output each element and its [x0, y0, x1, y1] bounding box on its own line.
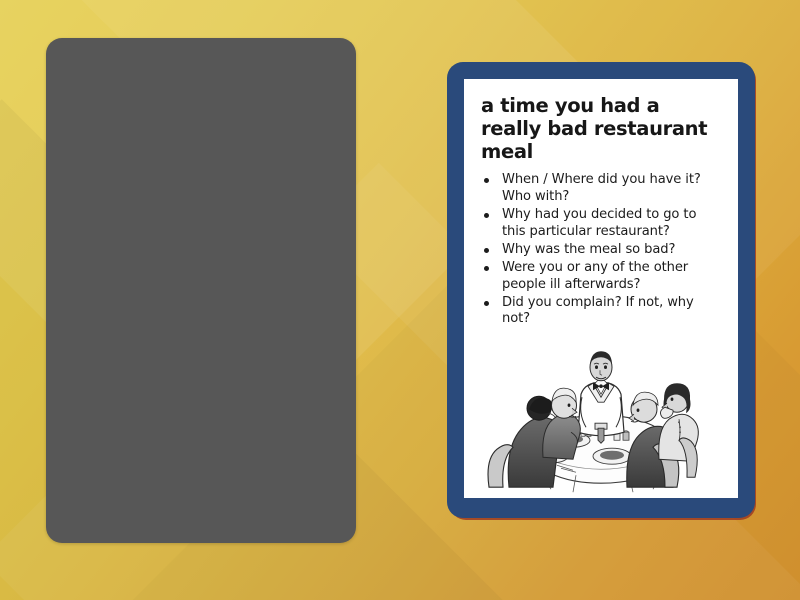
bullet-dot-icon [484, 248, 489, 253]
list-item: When / Where did you have it? Who with? [483, 172, 721, 205]
discussion-card[interactable]: a time you had a really bad restaurant m… [447, 62, 755, 518]
question-text: Were you or any of the other people ill … [502, 260, 688, 292]
list-item: Did you complain? If not, why not? [483, 295, 721, 328]
restaurant-diners-illustration [481, 336, 721, 498]
bullet-dot-icon [484, 213, 489, 218]
list-item: Why had you decided to go to this partic… [483, 207, 721, 240]
empty-content-placeholder[interactable] [46, 38, 356, 543]
list-item: Were you or any of the other people ill … [483, 260, 721, 293]
restaurant-diners-cartoon [481, 336, 721, 498]
question-text: When / Where did you have it? Who with? [502, 172, 701, 204]
list-item: Why was the meal so bad? [483, 242, 721, 259]
question-text: Why had you decided to go to this partic… [502, 207, 696, 239]
bullet-dot-icon [484, 301, 489, 306]
slide-canvas: a time you had a really bad restaurant m… [0, 0, 800, 600]
card-inner-panel: a time you had a really bad restaurant m… [464, 79, 738, 498]
card-title: a time you had a really bad restaurant m… [481, 95, 721, 163]
bullet-dot-icon [484, 266, 489, 271]
question-text: Why was the meal so bad? [502, 242, 675, 257]
question-list: When / Where did you have it? Who with? … [483, 172, 721, 329]
bullet-dot-icon [484, 178, 489, 183]
question-text: Did you complain? If not, why not? [502, 295, 694, 327]
